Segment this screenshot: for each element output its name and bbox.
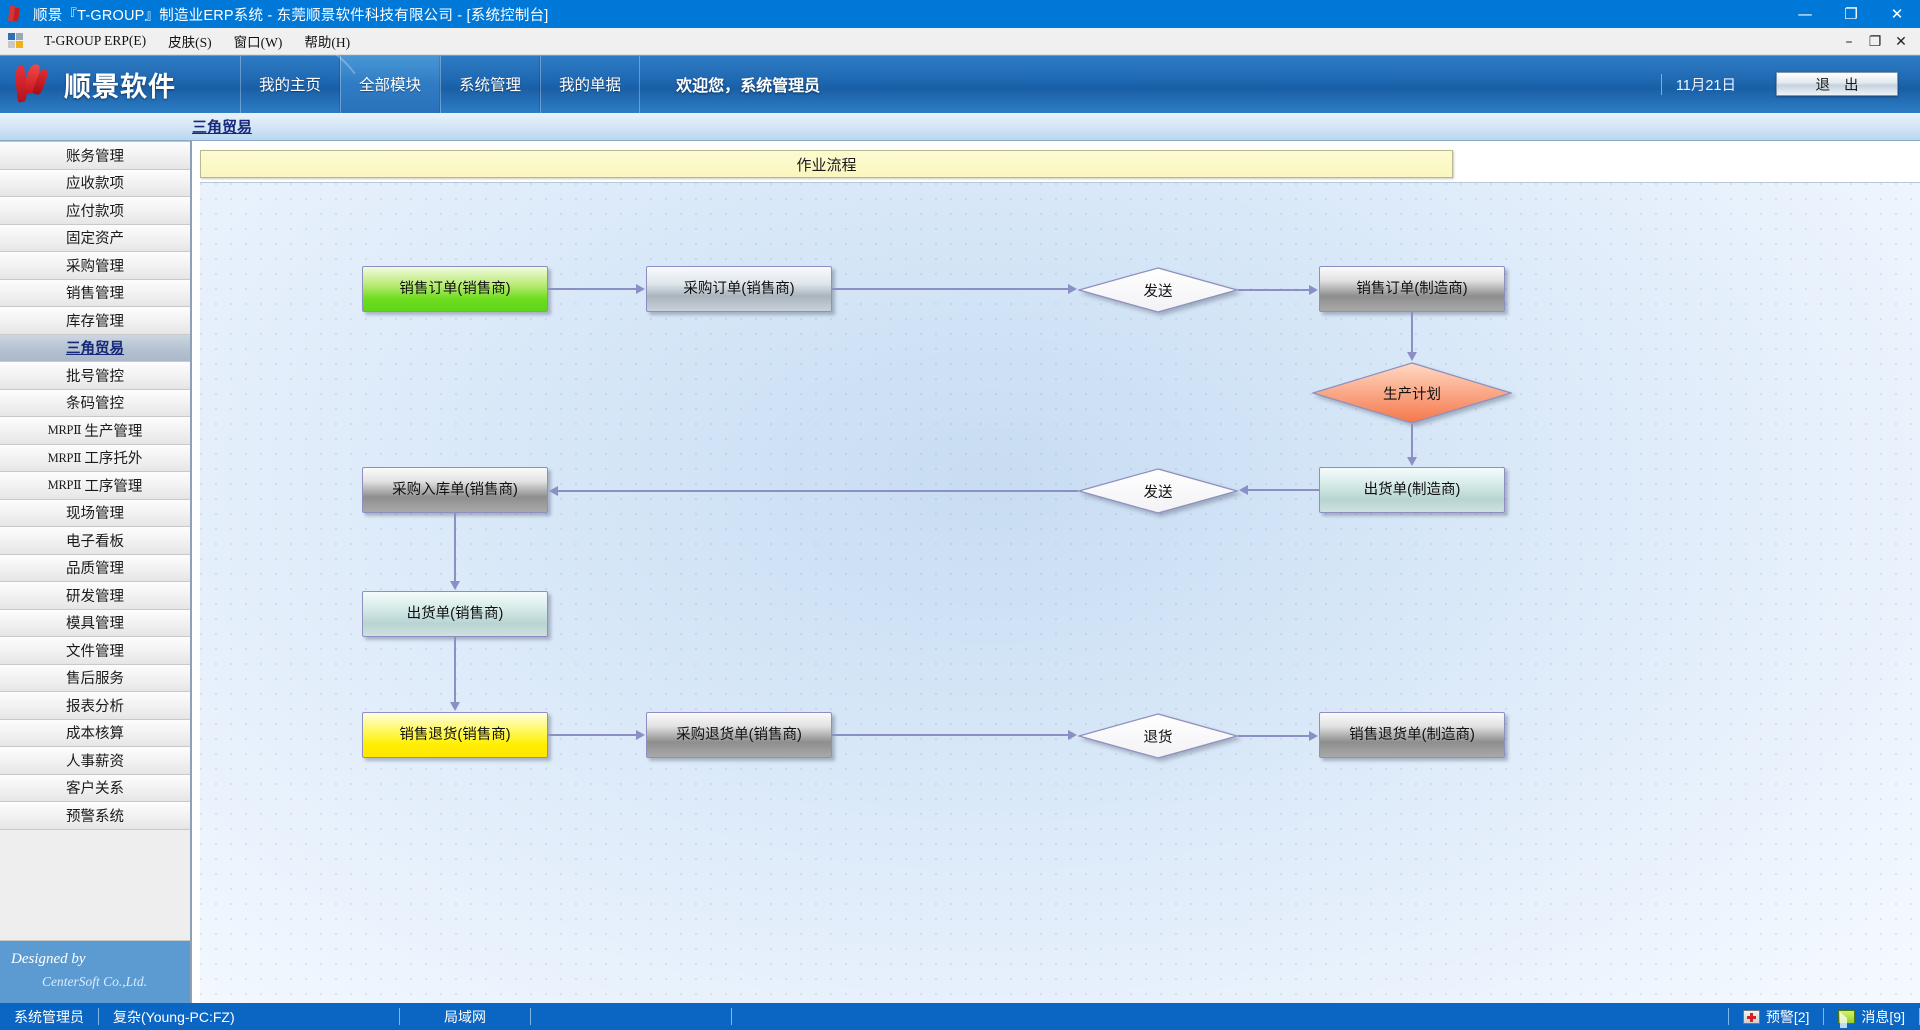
flow-node-n9[interactable]: 销售退货单(制造商) xyxy=(1319,712,1505,758)
content-canvas: 作业流程 销售订单(销售商)采购订单(销售商)发送销售订单(制造商)生产计划出货… xyxy=(192,141,1920,1003)
sidebar-item-9[interactable]: 条码管控 xyxy=(0,390,190,418)
flow-connector xyxy=(1238,735,1310,737)
sidebar-item-label: 工序托外 xyxy=(84,447,142,468)
mdi-restore-button[interactable]: ❐ xyxy=(1862,28,1888,55)
sidebar-item-label: 三角贸易 xyxy=(66,337,124,358)
sidebar-item-15[interactable]: 品质管理 xyxy=(0,555,190,583)
sidebar-item-label: 账务管理 xyxy=(66,145,124,166)
sidebar-item-label: 固定资产 xyxy=(66,227,124,248)
sidebar-item-13[interactable]: 现场管理 xyxy=(0,500,190,528)
sidebar-item-prefix: MRPⅡ xyxy=(48,422,82,438)
sidebar-footer-credit: Designed by CenterSoft Co.,Ltd. xyxy=(0,941,190,1003)
sidebar-item-label: 批号管控 xyxy=(66,365,124,386)
flow-node-label: 采购退货单(销售商) xyxy=(676,727,802,744)
brand: 顺景软件 xyxy=(0,55,230,113)
status-divider xyxy=(731,1008,732,1025)
flow-arrowhead xyxy=(1068,284,1077,294)
main-navigation-bar: 顺景软件 我的主页 全部模块 系统管理 我的单据 欢迎您，系统管理员 11月21… xyxy=(0,55,1920,113)
mdi-close-button[interactable]: ✕ xyxy=(1888,28,1914,55)
nav-tab-my-docs[interactable]: 我的单据 xyxy=(540,55,640,113)
status-alert-button[interactable]: 预警[2] xyxy=(1729,1003,1824,1030)
sidebar-item-label: 销售管理 xyxy=(66,282,124,303)
flow-connector xyxy=(557,490,1078,492)
status-alert-label: 预警[2] xyxy=(1766,1007,1810,1027)
workflow-diagram: 销售订单(销售商)采购订单(销售商)发送销售订单(制造商)生产计划出货单(制造商… xyxy=(200,182,1920,1003)
sidebar-item-17[interactable]: 模具管理 xyxy=(0,610,190,638)
designed-by-label: Designed by xyxy=(11,951,86,968)
sidebar-empty-space xyxy=(0,830,190,942)
sidebar-item-18[interactable]: 文件管理 xyxy=(0,637,190,665)
sidebar-item-label: 售后服务 xyxy=(66,667,124,688)
app-logo-icon xyxy=(7,5,25,23)
workspace: 账务管理应收款项应付款项固定资产采购管理销售管理库存管理三角贸易批号管控条码管控… xyxy=(0,141,1920,1003)
window-maximize-button[interactable]: ❐ xyxy=(1828,0,1874,28)
nav-tab-modules[interactable]: 全部模块 xyxy=(340,55,440,113)
workflow-title-band: 作业流程 xyxy=(200,150,1453,178)
flow-connector xyxy=(548,734,637,736)
sidebar-item-label: 客户关系 xyxy=(66,777,124,798)
flow-decision-label: 发送 xyxy=(1144,481,1173,502)
sidebar-item-2[interactable]: 应付款项 xyxy=(0,197,190,225)
sidebar-item-label: 品质管理 xyxy=(66,557,124,578)
menu-item-help[interactable]: 帮助(H) xyxy=(293,28,361,54)
brand-flame-icon xyxy=(12,64,56,104)
sidebar-item-label: 工序管理 xyxy=(84,475,142,496)
logout-button[interactable]: 退 出 xyxy=(1776,72,1898,96)
sidebar-item-label: 人事薪资 xyxy=(66,750,124,771)
flow-arrowhead xyxy=(450,702,460,711)
flow-decision-d2[interactable]: 生产计划 xyxy=(1312,362,1512,424)
flow-node-n7[interactable]: 销售退货(销售商) xyxy=(362,712,548,758)
sidebar-item-label: 应付款项 xyxy=(66,200,124,221)
status-network: 局域网 xyxy=(400,1003,530,1030)
application-menu-bar: T-GROUP ERP(E) 皮肤(S) 窗口(W) 帮助(H) – ❐ ✕ xyxy=(0,28,1920,55)
flow-arrowhead xyxy=(1407,352,1417,361)
menu-item-window[interactable]: 窗口(W) xyxy=(223,28,294,54)
flow-connector xyxy=(1411,312,1413,353)
flow-node-label: 采购入库单(销售商) xyxy=(392,482,518,499)
sidebar-item-label: 生产管理 xyxy=(84,420,142,441)
flow-decision-d4[interactable]: 退货 xyxy=(1078,713,1238,759)
flow-connector xyxy=(1411,424,1413,458)
flow-node-n2[interactable]: 采购订单(销售商) xyxy=(646,266,832,312)
sidebar-item-label: 采购管理 xyxy=(66,255,124,276)
nav-tab-system[interactable]: 系统管理 xyxy=(440,55,540,113)
window-controls: — ❐ ✕ xyxy=(1782,0,1920,28)
flow-connector xyxy=(548,288,637,290)
flow-connector xyxy=(832,288,1069,290)
sidebar-item-12[interactable]: MRPⅡ工序管理 xyxy=(0,472,190,500)
flow-decision-label: 发送 xyxy=(1144,280,1173,301)
flow-decision-d3[interactable]: 发送 xyxy=(1078,468,1238,514)
window-minimize-button[interactable]: — xyxy=(1782,0,1828,28)
current-date: 11月21日 xyxy=(1661,74,1736,95)
flow-node-label: 出货单(制造商) xyxy=(1364,482,1461,499)
sidebar-item-0[interactable]: 账务管理 xyxy=(0,142,190,170)
flow-node-n4[interactable]: 出货单(制造商) xyxy=(1319,467,1505,513)
alert-kit-icon xyxy=(1743,1010,1760,1024)
flow-node-n3[interactable]: 销售订单(制造商) xyxy=(1319,266,1505,312)
status-message-button[interactable]: 消息[9] xyxy=(1824,1003,1919,1030)
sidebar-item-8[interactable]: 批号管控 xyxy=(0,362,190,390)
menu-item-skin[interactable]: 皮肤(S) xyxy=(157,28,223,54)
flow-connector xyxy=(454,513,456,582)
flow-node-label: 销售订单(销售商) xyxy=(399,281,510,298)
flow-node-label: 出货单(销售商) xyxy=(407,606,504,623)
flow-arrowhead xyxy=(450,581,460,590)
sidebar-item-16[interactable]: 研发管理 xyxy=(0,582,190,610)
sidebar-item-20[interactable]: 报表分析 xyxy=(0,692,190,720)
breadcrumb-bar: 三角贸易 xyxy=(0,113,1920,141)
mdi-document-icon xyxy=(8,33,24,49)
sidebar-item-label: 成本核算 xyxy=(66,722,124,743)
flow-node-label: 销售订单(制造商) xyxy=(1356,281,1467,298)
sidebar-item-prefix: MRPⅡ xyxy=(48,477,82,493)
sidebar-item-5[interactable]: 销售管理 xyxy=(0,280,190,308)
nav-tab-home[interactable]: 我的主页 xyxy=(240,55,340,113)
sidebar-item-6[interactable]: 库存管理 xyxy=(0,307,190,335)
sidebar-item-21[interactable]: 成本核算 xyxy=(0,720,190,748)
sidebar-item-14[interactable]: 电子看板 xyxy=(0,527,190,555)
flow-connector xyxy=(1238,289,1310,291)
flow-arrowhead xyxy=(1068,730,1077,740)
sidebar-item-19[interactable]: 售后服务 xyxy=(0,665,190,693)
breadcrumb-current[interactable]: 三角贸易 xyxy=(192,116,252,137)
flow-node-label: 采购订单(销售商) xyxy=(683,281,794,298)
sidebar-item-label: 报表分析 xyxy=(66,695,124,716)
sidebar: 账务管理应收款项应付款项固定资产采购管理销售管理库存管理三角贸易批号管控条码管控… xyxy=(0,141,192,1003)
sidebar-item-24[interactable]: 预警系统 xyxy=(0,802,190,830)
flow-connector xyxy=(454,637,456,703)
flow-arrowhead xyxy=(1309,285,1318,295)
flow-decision-d1[interactable]: 发送 xyxy=(1078,267,1238,313)
sidebar-item-22[interactable]: 人事薪资 xyxy=(0,747,190,775)
status-bar: 系统管理员 复杂(Young-PC:FZ) 局域网 预警[2] 消息[9] xyxy=(0,1003,1920,1030)
brand-name: 顺景软件 xyxy=(64,65,176,104)
mdi-window-controls: – ❐ ✕ xyxy=(1836,28,1914,55)
flow-connector xyxy=(832,734,1069,736)
sidebar-item-prefix: MRPⅡ xyxy=(48,450,82,466)
sidebar-item-label: 研发管理 xyxy=(66,585,124,606)
sidebar-item-label: 应收款项 xyxy=(66,172,124,193)
mdi-minimize-button[interactable]: – xyxy=(1836,28,1862,55)
sidebar-item-label: 条码管控 xyxy=(66,392,124,413)
welcome-message: 欢迎您，系统管理员 xyxy=(676,55,820,113)
flow-arrowhead xyxy=(636,730,645,740)
sidebar-item-1[interactable]: 应收款项 xyxy=(0,170,190,198)
status-spare-cell xyxy=(531,1003,731,1030)
status-message-label: 消息[9] xyxy=(1861,1007,1905,1027)
status-user: 系统管理员 xyxy=(0,1003,98,1030)
sidebar-item-10[interactable]: MRPⅡ生产管理 xyxy=(0,417,190,445)
sidebar-item-3[interactable]: 固定资产 xyxy=(0,225,190,253)
sidebar-item-label: 文件管理 xyxy=(66,640,124,661)
flow-arrowhead xyxy=(1407,457,1417,466)
menu-item-erp[interactable]: T-GROUP ERP(E) xyxy=(33,30,157,52)
window-title: 顺景『T-GROUP』制造业ERP系统 - 东莞顺景软件科技有限公司 - [系统… xyxy=(33,4,549,25)
flow-node-n5[interactable]: 采购入库单(销售商) xyxy=(362,467,548,513)
os-title-bar: 顺景『T-GROUP』制造业ERP系统 - 东莞顺景软件科技有限公司 - [系统… xyxy=(0,0,1920,28)
status-database: 复杂(Young-PC:FZ) xyxy=(99,1003,399,1030)
sidebar-item-label: 现场管理 xyxy=(66,502,124,523)
flow-decision-label: 生产计划 xyxy=(1383,383,1441,404)
sidebar-item-11[interactable]: MRPⅡ工序托外 xyxy=(0,445,190,473)
flow-arrowhead xyxy=(1309,731,1318,741)
sidebar-item-label: 电子看板 xyxy=(66,530,124,551)
nav-tabs: 我的主页 全部模块 系统管理 我的单据 xyxy=(240,55,640,113)
sidebar-module-list: 账务管理应收款项应付款项固定资产采购管理销售管理库存管理三角贸易批号管控条码管控… xyxy=(0,141,190,830)
flow-node-label: 销售退货单(制造商) xyxy=(1349,727,1475,744)
flow-decision-label: 退货 xyxy=(1144,726,1173,747)
sidebar-item-23[interactable]: 客户关系 xyxy=(0,775,190,803)
window-close-button[interactable]: ✕ xyxy=(1874,0,1920,28)
flow-node-n8[interactable]: 采购退货单(销售商) xyxy=(646,712,832,758)
sidebar-item-7[interactable]: 三角贸易 xyxy=(0,335,190,363)
sidebar-item-label: 预警系统 xyxy=(66,805,124,826)
flow-arrowhead xyxy=(549,486,558,496)
flow-node-label: 销售退货(销售商) xyxy=(399,727,510,744)
flow-node-n6[interactable]: 出货单(销售商) xyxy=(362,591,548,637)
flow-connector xyxy=(1247,489,1319,491)
sidebar-item-4[interactable]: 采购管理 xyxy=(0,252,190,280)
sidebar-item-label: 模具管理 xyxy=(66,612,124,633)
status-right-group: 预警[2] 消息[9] xyxy=(1728,1003,1920,1030)
company-label: CenterSoft Co.,Ltd. xyxy=(42,974,147,990)
mail-icon xyxy=(1838,1010,1855,1024)
flow-arrowhead xyxy=(636,284,645,294)
flow-node-n1[interactable]: 销售订单(销售商) xyxy=(362,266,548,312)
nav-right-group: 11月21日 退 出 xyxy=(1661,55,1920,113)
flow-arrowhead xyxy=(1239,485,1248,495)
sidebar-item-label: 库存管理 xyxy=(66,310,124,331)
